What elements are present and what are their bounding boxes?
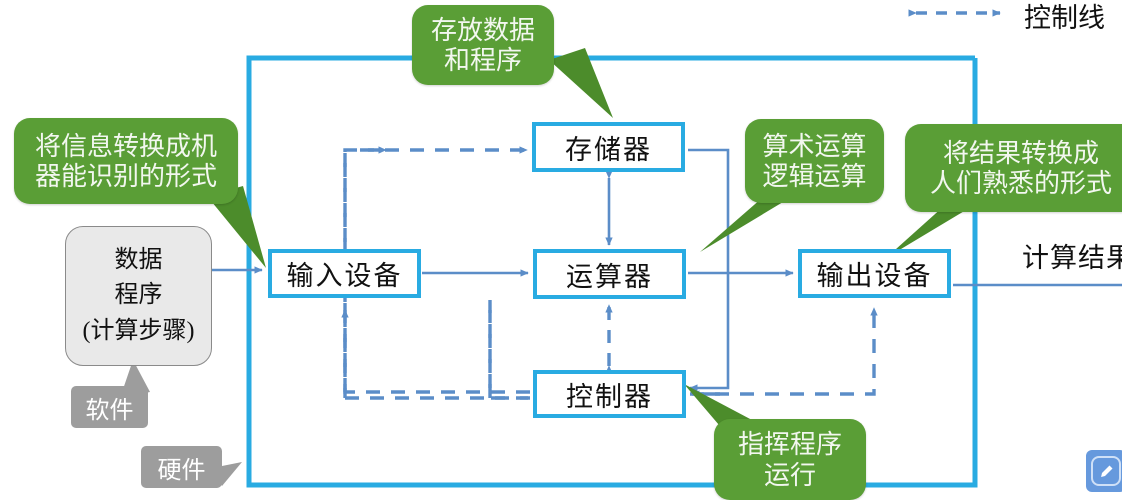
callout-output[interactable]: 将结果转换成 人们熟悉的形式 bbox=[905, 124, 1122, 212]
callout-software-label: 软件 bbox=[86, 390, 134, 425]
callout-output-line-2: 人们熟悉的形式 bbox=[930, 168, 1112, 198]
callout-memory-tail bbox=[549, 48, 613, 118]
callout-alu-tail bbox=[700, 196, 793, 252]
callout-control-line-1: 指挥程序 bbox=[738, 429, 842, 459]
unit-controller[interactable]: 控制器 bbox=[533, 370, 686, 418]
unit-input-device-label: 输入设备 bbox=[287, 254, 403, 293]
unit-input-device[interactable]: 输入设备 bbox=[268, 249, 421, 298]
callout-memory-line-1: 存放数据 bbox=[431, 15, 535, 45]
control-controller-to-output bbox=[690, 308, 874, 394]
data-box-line-2: 程序 bbox=[115, 283, 163, 308]
pencil-edit-icon bbox=[1091, 456, 1121, 486]
callout-control[interactable]: 指挥程序 运行 bbox=[714, 419, 866, 500]
control-controller-column bbox=[490, 300, 530, 398]
callout-memory[interactable]: 存放数据 和程序 bbox=[412, 5, 554, 85]
callout-alu-line-1: 算术运算 bbox=[762, 131, 866, 161]
callout-alu[interactable]: 算术运算 逻辑运算 bbox=[745, 119, 884, 203]
callout-hardware[interactable]: 硬件 bbox=[141, 446, 222, 488]
data-program-box: 数据 程序 (计算步骤) bbox=[65, 226, 212, 366]
unit-memory-label: 存储器 bbox=[565, 128, 652, 167]
callout-memory-line-2: 和程序 bbox=[444, 45, 522, 75]
legend-control-line-label: 控制线 bbox=[1024, 0, 1105, 35]
unit-memory[interactable]: 存储器 bbox=[532, 122, 685, 172]
data-box-line-3: (计算步骤) bbox=[83, 319, 195, 344]
diagram-canvas: 数据 程序 (计算步骤) 输入设备 存储器 运算器 控制器 输出设备 存放数据 … bbox=[0, 0, 1122, 500]
callout-hardware-label: 硬件 bbox=[158, 450, 206, 485]
unit-output-device[interactable]: 输出设备 bbox=[798, 249, 951, 298]
callout-input-line-1: 将信息转换成机 bbox=[35, 131, 217, 161]
callout-control-line-2: 运行 bbox=[764, 460, 816, 490]
callout-input[interactable]: 将信息转换成机 器能识别的形式 bbox=[14, 118, 238, 204]
callout-alu-line-2: 逻辑运算 bbox=[762, 161, 866, 191]
unit-controller-label: 控制器 bbox=[566, 375, 653, 414]
unit-alu-label: 运算器 bbox=[566, 255, 653, 294]
callout-output-line-1: 将结果转换成 bbox=[943, 138, 1099, 168]
callout-input-line-2: 器能识别的形式 bbox=[35, 161, 217, 191]
callout-software[interactable]: 软件 bbox=[71, 386, 148, 428]
unit-output-device-label: 输出设备 bbox=[817, 254, 933, 293]
result-label: 计算结果 bbox=[1022, 236, 1122, 275]
data-box-line-1: 数据 bbox=[115, 248, 163, 273]
edit-fab-button[interactable] bbox=[1086, 450, 1122, 492]
unit-alu[interactable]: 运算器 bbox=[533, 249, 686, 299]
flow-memory-to-controller bbox=[688, 150, 728, 388]
